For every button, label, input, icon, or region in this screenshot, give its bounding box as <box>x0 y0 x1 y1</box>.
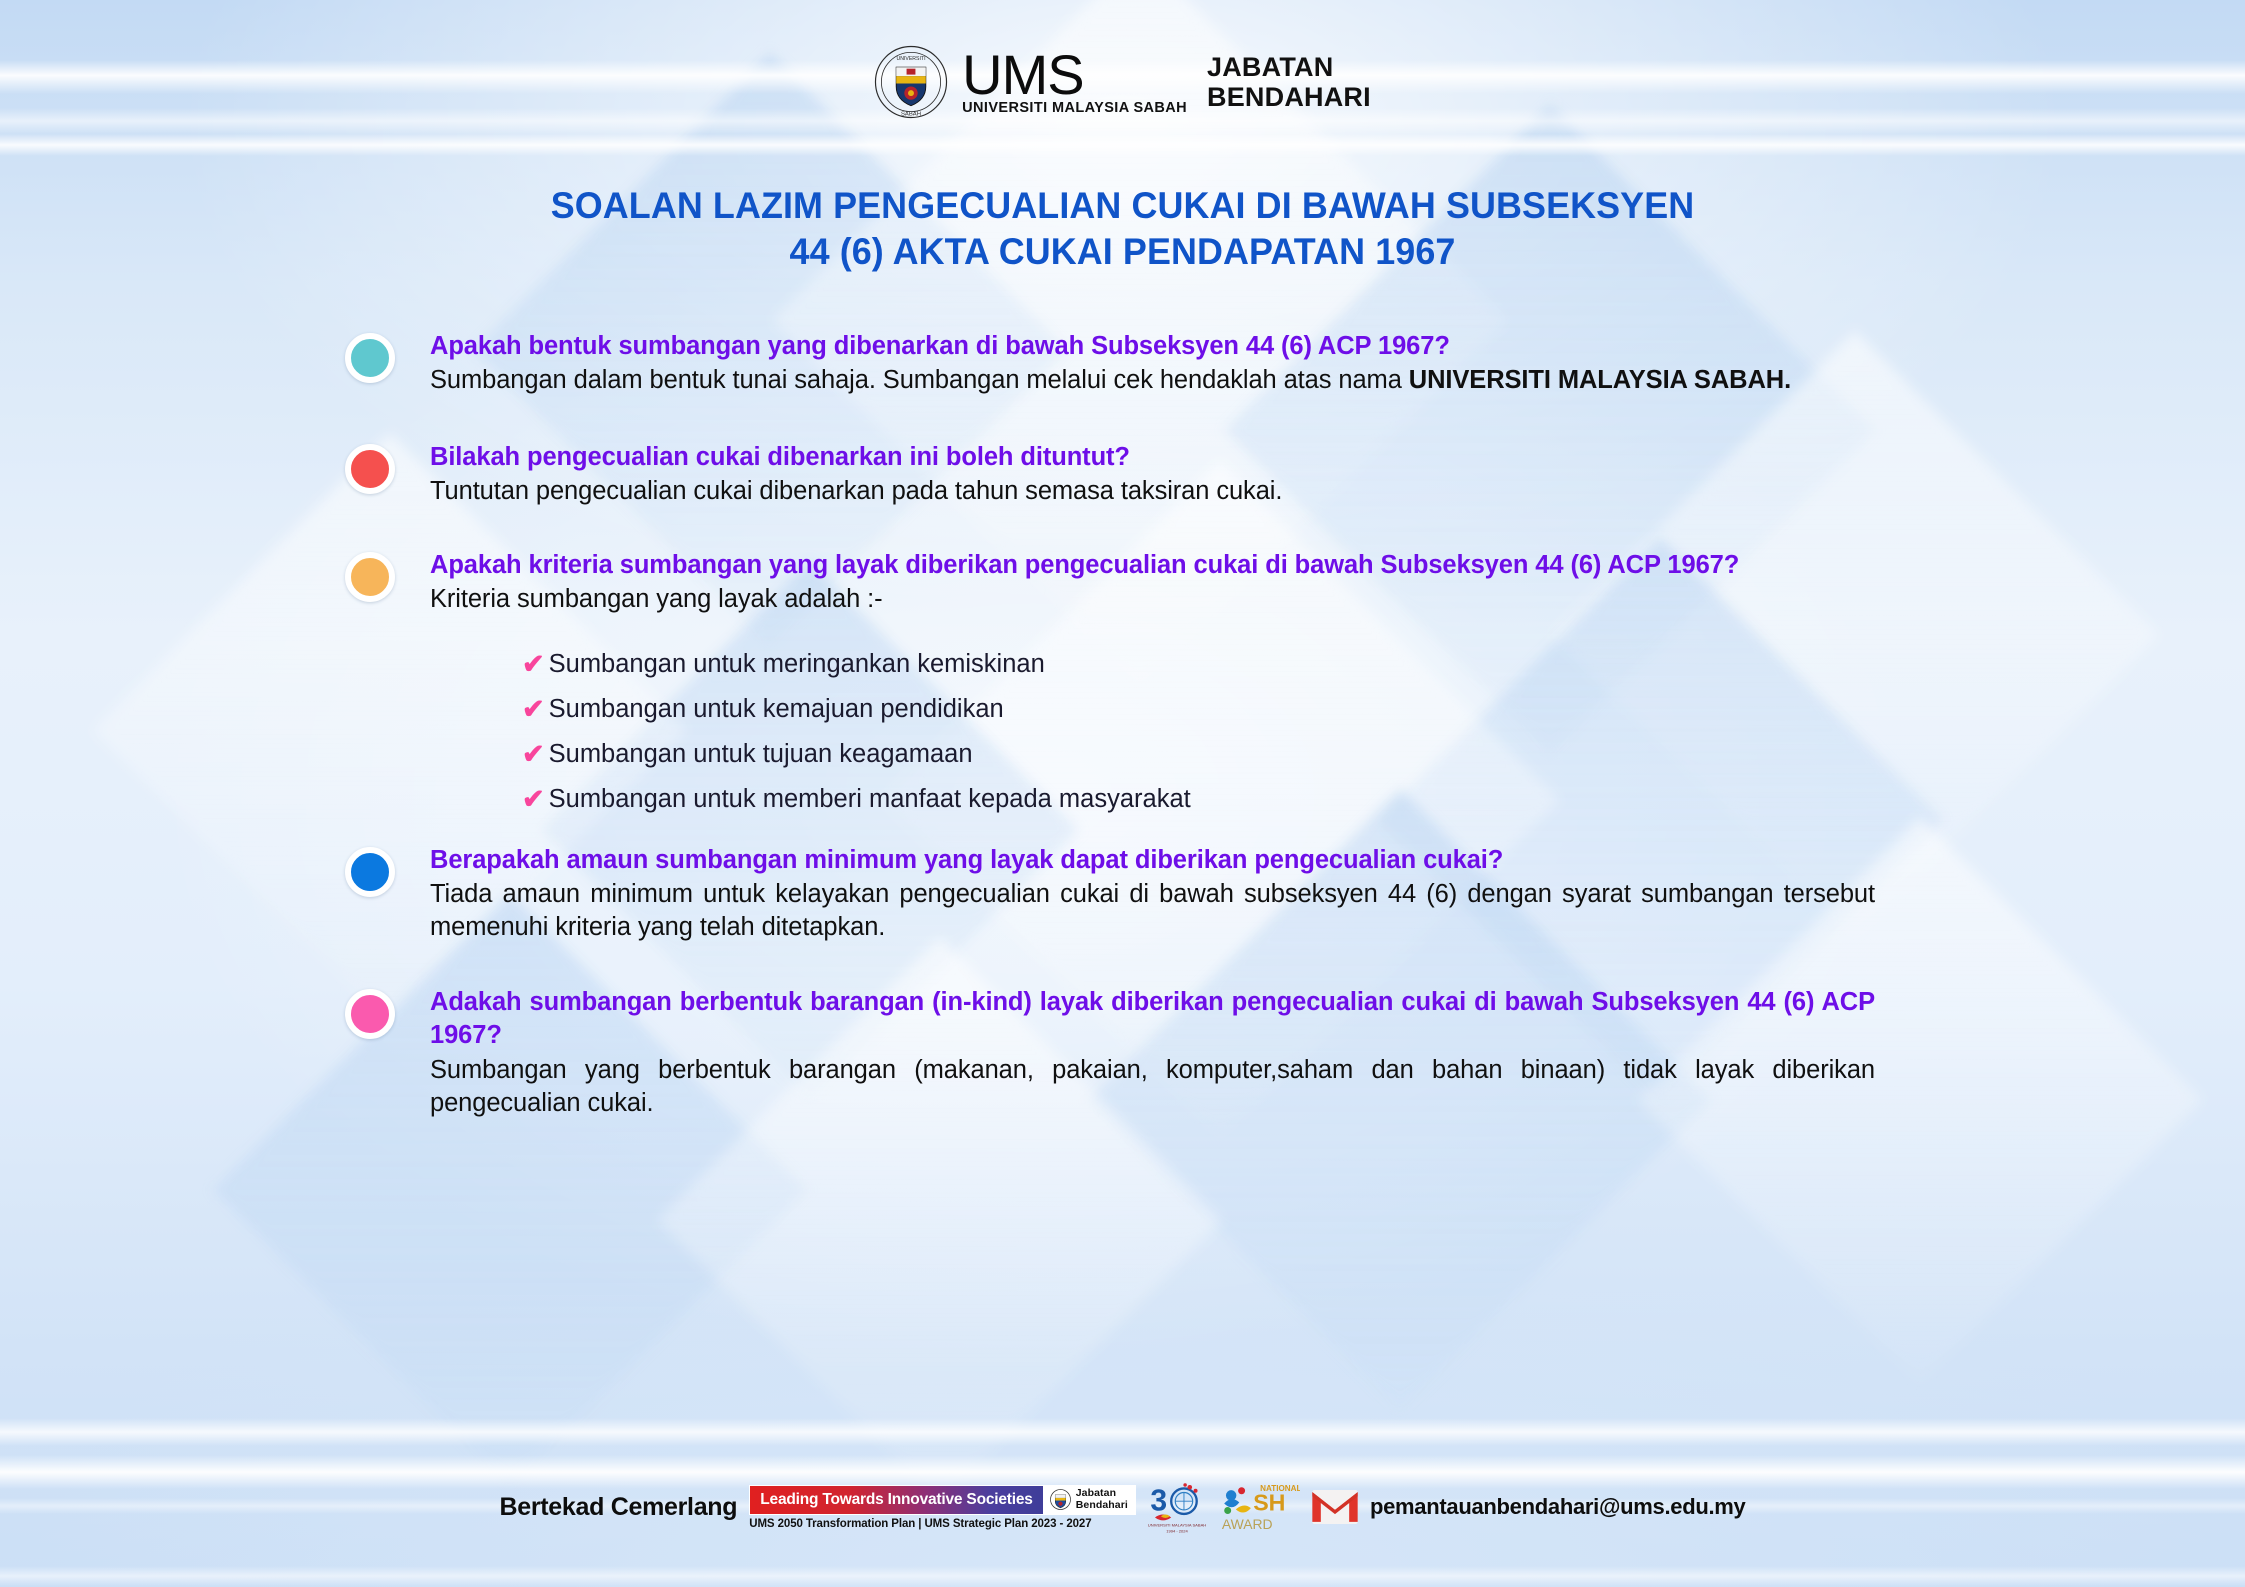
ums-wordmark: UMS UNIVERSITI MALAYSIA SABAH <box>962 48 1187 116</box>
faq-bullet-dot <box>345 847 395 897</box>
svg-text:SABAH: SABAH <box>901 111 921 117</box>
checklist-item: ✔ Sumbangan untuk meringankan kemiskinan <box>522 650 1875 679</box>
check-icon: ✔ <box>522 651 545 678</box>
faq-question: Bilakah pengecualian cukai dibenarkan in… <box>430 441 1875 474</box>
faq-answer-emphasis: UNIVERSITI MALAYSIA SABAH. <box>1409 366 1791 394</box>
faq-bullet-dot <box>345 444 395 494</box>
page-title-line-2: 44 (6) AKTA CUKAI PENDAPATAN 1967 <box>34 229 2212 275</box>
faq-question: Adakah sumbangan berbentuk barangan (in-… <box>430 986 1875 1052</box>
faq-answer: Sumbangan yang berbentuk barangan (makan… <box>430 1054 1875 1120</box>
footer-tagline: Bertekad Cemerlang <box>499 1493 737 1522</box>
faq-item: Apakah bentuk sumbangan yang dibenarkan … <box>345 330 1875 397</box>
check-icon: ✔ <box>522 696 545 723</box>
svg-text:SH: SH <box>1253 1489 1285 1515</box>
faq-answer-text: Sumbangan dalam bentuk tunai sahaja. Sum… <box>430 366 1409 394</box>
national-osh-award-logo-icon: NATIONAL SH AWARD <box>1218 1478 1300 1536</box>
ums-logo-subtext: UNIVERSITI MALAYSIA SABAH <box>962 100 1187 116</box>
checklist-item: ✔ Sumbangan untuk memberi manfaat kepada… <box>522 785 1875 814</box>
check-icon: ✔ <box>522 786 545 813</box>
strategic-plan-bar: Leading Towards Innovative Societies Jab… <box>749 1485 1136 1515</box>
jabatan-crest-icon <box>1050 1489 1071 1510</box>
strategic-plan-subtitle: UMS 2050 Transformation Plan | UMS Strat… <box>749 1518 1136 1530</box>
svg-text:3: 3 <box>1150 1484 1167 1517</box>
checklist-item: ✔ Sumbangan untuk kemajuan pendidikan <box>522 695 1875 724</box>
page-title-line-1: SOALAN LAZIM PENGECUALIAN CUKAI DI BAWAH… <box>34 183 2212 229</box>
faq-list: Apakah bentuk sumbangan yang dibenarkan … <box>345 330 1875 1120</box>
checklist-item: ✔ Sumbangan untuk tujuan keagamaan <box>522 740 1875 769</box>
faq-item: Adakah sumbangan berbentuk barangan (in-… <box>345 986 1875 1120</box>
strategic-plan-banner: Leading Towards Innovative Societies Jab… <box>749 1485 1136 1530</box>
faq-answer: Kriteria sumbangan yang layak adalah :- <box>430 583 1875 616</box>
svg-text:1994 - 2024: 1994 - 2024 <box>1166 1529 1188 1534</box>
faq-question: Berapakah amaun sumbangan minimum yang l… <box>430 844 1875 877</box>
checklist-item-label: Sumbangan untuk memberi manfaat kepada m… <box>549 785 1191 814</box>
svg-text:UNIVERSITI: UNIVERSITI <box>897 56 926 62</box>
faq-answer: Tiada amaun minimum untuk kelayakan peng… <box>430 878 1875 944</box>
page-title: SOALAN LAZIM PENGECUALIAN CUKAI DI BAWAH… <box>34 183 2212 275</box>
department-line-2: BENDAHARI <box>1207 82 1371 112</box>
jabatan-line-2: Bendahari <box>1076 1500 1128 1511</box>
faq-bullet-dot <box>345 989 395 1039</box>
contact-email[interactable]: pemantauanbendahari@ums.edu.my <box>1370 1494 1746 1520</box>
ums-logo-text: UMS <box>962 48 1083 102</box>
strategic-plan-slogan: Leading Towards Innovative Societies <box>750 1486 1042 1514</box>
jabatan-bendahari-logo: Jabatan Bendahari <box>1043 1486 1135 1514</box>
faq-bullet-dot <box>345 333 395 383</box>
jabatan-bendahari-text: Jabatan Bendahari <box>1076 1488 1128 1510</box>
svg-text:AWARD: AWARD <box>1222 1516 1273 1532</box>
faq-bullet-dot <box>345 552 395 602</box>
ums-crest-icon: UNIVERSITI SABAH <box>874 45 948 119</box>
faq-answer: Tuntutan pengecualian cukai dibenarkan p… <box>430 475 1875 508</box>
department-name: JABATAN BENDAHARI <box>1207 52 1371 112</box>
check-icon: ✔ <box>522 741 545 768</box>
faq-checklist: ✔ Sumbangan untuk meringankan kemiskinan… <box>522 650 1875 814</box>
header-logo-bar: UNIVERSITI SABAH UMS UNIVERSITI MALAYSIA… <box>0 45 2245 119</box>
faq-item: Bilakah pengecualian cukai dibenarkan in… <box>345 441 1875 508</box>
faq-answer: Sumbangan dalam bentuk tunai sahaja. Sum… <box>430 364 1875 397</box>
checklist-item-label: Sumbangan untuk kemajuan pendidikan <box>549 695 1004 724</box>
faq-item: Berapakah amaun sumbangan minimum yang l… <box>345 844 1875 944</box>
faq-item: Apakah kriteria sumbangan yang layak dib… <box>345 549 1875 814</box>
checklist-item-label: Sumbangan untuk meringankan kemiskinan <box>549 650 1045 679</box>
footer-bar: Bertekad Cemerlang Leading Towards Innov… <box>0 1478 2245 1536</box>
checklist-item-label: Sumbangan untuk tujuan keagamaan <box>549 740 973 769</box>
anniversary-30-logo-icon: 3 UNIVERSITI MALAYSIA SABAH 1994 - 2024 <box>1148 1478 1206 1536</box>
jabatan-line-1: Jabatan <box>1076 1488 1128 1499</box>
svg-text:UNIVERSITI MALAYSIA SABAH: UNIVERSITI MALAYSIA SABAH <box>1148 1523 1206 1528</box>
faq-question: Apakah bentuk sumbangan yang dibenarkan … <box>430 330 1875 363</box>
faq-question: Apakah kriteria sumbangan yang layak dib… <box>430 549 1875 582</box>
gmail-envelope-icon <box>1312 1490 1358 1524</box>
department-line-1: JABATAN <box>1207 52 1371 82</box>
